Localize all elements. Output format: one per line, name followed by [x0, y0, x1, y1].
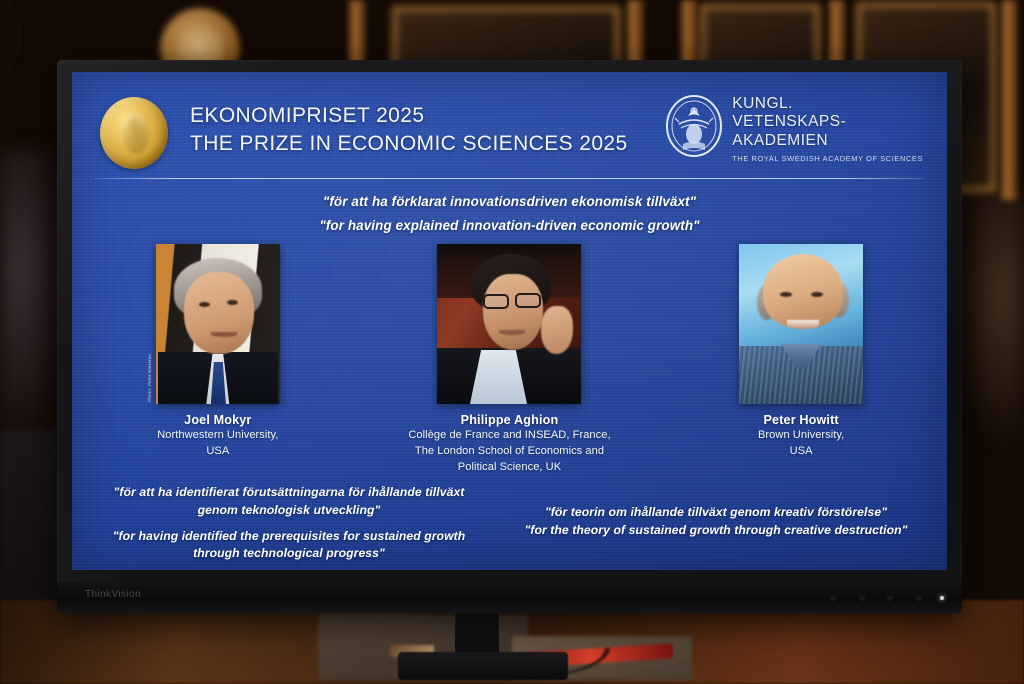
presentation-slide: EKONOMIPRISET 2025 THE PRIZE IN ECONOMIC…: [72, 72, 947, 570]
prize-motivation: "för att ha förklarat innovationsdriven …: [72, 190, 947, 238]
osd-button[interactable]: [830, 595, 836, 601]
portrait-peter-howitt: [739, 244, 863, 404]
citation-right: "för teorin om ihållande tillväxt genom …: [493, 504, 939, 540]
osd-button[interactable]: [916, 595, 922, 601]
motivation-swedish: "för att ha förklarat innovationsdriven …: [72, 190, 947, 214]
laureate-card-peter-howitt: Peter Howitt Brown University, USA: [667, 244, 935, 459]
monitor-screen[interactable]: EKONOMIPRISET 2025 THE PRIZE IN ECONOMIC…: [72, 72, 947, 570]
cable: [500, 648, 680, 684]
motivation-english: "for having explained innovation-driven …: [72, 214, 947, 238]
laureate-affiliation-line: USA: [790, 444, 813, 459]
medal-profile-relief: [123, 113, 147, 153]
blurred-person: [954, 190, 1024, 450]
citation-right-en-1: "for the theory of sustained growth thro…: [493, 522, 939, 540]
photo-wrapper: Photo: Peter Barreras: [156, 244, 280, 404]
slide-title-block: EKONOMIPRISET 2025 THE PRIZE IN ECONOMIC…: [190, 102, 628, 157]
academy-line-1: KUNGL.: [732, 95, 923, 113]
laureate-affiliation-line: Brown University,: [758, 428, 844, 443]
academy-logo: KUNGL. VETENSKAPS- AKADEMIEN THE ROYAL S…: [665, 94, 923, 163]
laureates-row: Photo: Peter Barreras Joel Mokyr Northwe…: [72, 244, 947, 474]
citation-left-en-2: through technological progress": [80, 545, 498, 563]
nobel-medal-icon: [100, 97, 168, 169]
citation-left: "för att ha identifierat förutsättningar…: [80, 484, 498, 563]
portrait-joel-mokyr: [156, 244, 280, 404]
laureate-affiliation-line: Political Science, UK: [458, 460, 561, 475]
laureate-card-joel-mokyr: Photo: Peter Barreras Joel Mokyr Northwe…: [84, 244, 352, 459]
header-divider: [94, 178, 925, 179]
monitor-osd-buttons[interactable]: [830, 595, 922, 601]
monitor-bottom-bezel: ThinkVision: [57, 582, 962, 613]
monitor: EKONOMIPRISET 2025 THE PRIZE IN ECONOMIC…: [57, 60, 962, 613]
laureate-affiliation-line: The London School of Economics and: [415, 444, 604, 459]
laureate-name: Joel Mokyr: [184, 413, 251, 427]
laureate-affiliation-line: USA: [206, 444, 229, 459]
academy-line-2: VETENSKAPS-: [732, 113, 923, 131]
citation-left-en-1: "for having identified the prerequisites…: [80, 528, 498, 546]
laureate-name: Philippe Aghion: [461, 413, 559, 427]
academy-subtitle: THE ROYAL SWEDISH ACADEMY OF SCIENCES: [732, 154, 923, 163]
laureate-affiliation-line: Collège de France and INSEAD, France,: [408, 428, 610, 443]
photo-credit: Photo: Peter Barreras: [147, 354, 152, 402]
page-title-sv: EKONOMIPRISET 2025: [190, 102, 628, 130]
citation-right-sv-1: "för teorin om ihållande tillväxt genom …: [493, 504, 939, 522]
osd-button[interactable]: [859, 595, 865, 601]
laureate-name: Peter Howitt: [764, 413, 839, 427]
citation-left-sv-2: genom teknologisk utveckling": [80, 502, 498, 520]
royal-academy-seal-icon: [665, 94, 723, 158]
laureate-affiliation-line: Northwestern University,: [157, 428, 278, 443]
academy-wordmark: KUNGL. VETENSKAPS- AKADEMIEN THE ROYAL S…: [732, 94, 923, 163]
citation-left-sv-1: "för att ha identifierat förutsättningar…: [80, 484, 498, 502]
laureate-card-philippe-aghion: Philippe Aghion Collège de France and IN…: [375, 244, 643, 474]
photo-wrapper: [739, 244, 863, 404]
portrait-philippe-aghion: [437, 244, 581, 404]
osd-button[interactable]: [887, 595, 893, 601]
photo-wrapper: [437, 244, 581, 404]
power-led-indicator[interactable]: [940, 596, 944, 600]
page-title-en: THE PRIZE IN ECONOMIC SCIENCES 2025: [190, 130, 628, 158]
monitor-brand-label: ThinkVision: [85, 589, 141, 600]
wood-pillar: [1000, 0, 1018, 200]
academy-line-3: AKADEMIEN: [732, 132, 923, 150]
